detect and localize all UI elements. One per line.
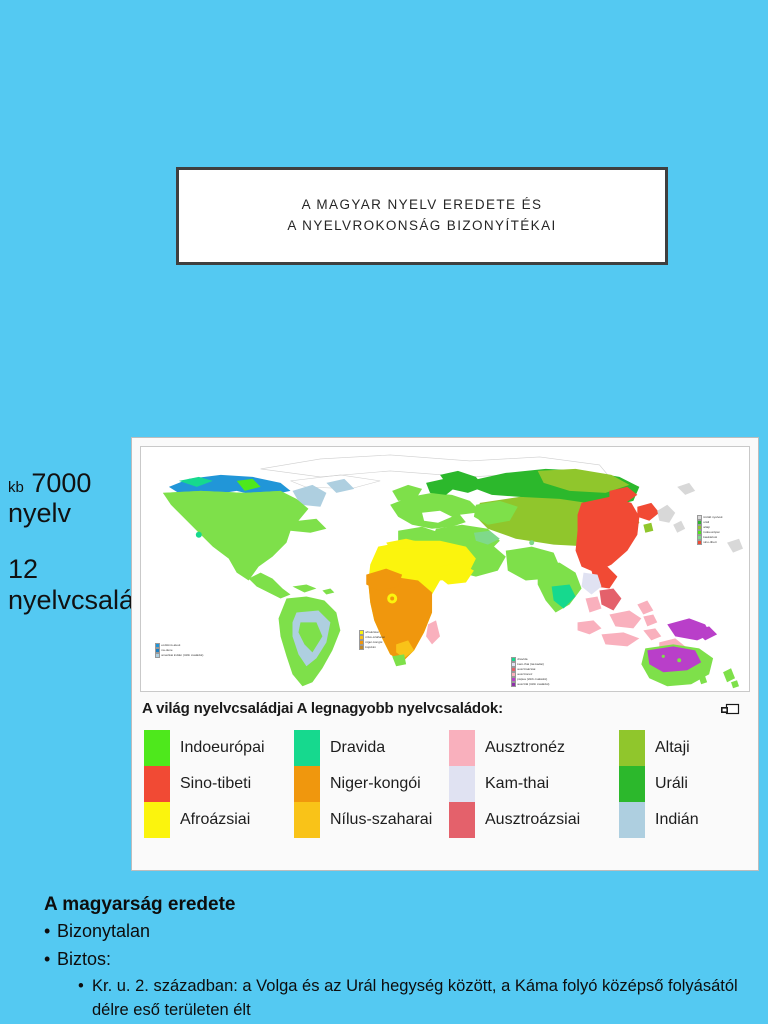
note-number-7000: 7000 [31, 468, 91, 498]
map-legend-item: sino-tibeti [697, 540, 723, 545]
map-legend-item: kojszán [359, 645, 385, 650]
map-legend-oceania: dravida kam-thai (tai-kadai) ausztroázsi… [511, 657, 549, 687]
legend-label-stack: Indoeurópai Sino-tibeti Afroázsiai [170, 730, 265, 838]
bottom-heading: A magyarság eredete [44, 892, 744, 918]
map-legend-label: kojszán [365, 645, 376, 650]
legend-column: Altaji Uráli Indián [619, 730, 744, 838]
legend-swatch-stack [144, 730, 170, 838]
swatch-icon [359, 645, 364, 650]
swatch-icon [449, 730, 475, 766]
page-title: A MAGYAR NYELV EREDETE ÉS A NYELVROKONSÁ… [287, 195, 556, 237]
legend-label: Ausztroázsiai [485, 802, 580, 838]
bottom-text-block: A magyarság eredete Bizonytalan Biztos: … [44, 892, 744, 1022]
legend-label: Nílus-szaharai [330, 802, 432, 838]
list-item: Biztos: [44, 946, 744, 974]
swatch-icon [697, 540, 702, 545]
swatch-icon [294, 730, 320, 766]
legend-label: Dravida [330, 730, 432, 766]
legend-label: Uráli [655, 766, 699, 802]
map-legend-label: sino-tibeti [703, 540, 716, 545]
swatch-icon [144, 766, 170, 802]
legend-label-stack: Dravida Niger-kongói Nílus-szaharai [320, 730, 432, 838]
legend-label: Indoeurópai [180, 730, 265, 766]
legend-label: Ausztronéz [485, 730, 580, 766]
figure-caption: A világ nyelvcsaládjai A legnagyobb nyel… [142, 700, 503, 717]
swatch-icon [449, 802, 475, 838]
legend-column: Dravida Niger-kongói Nílus-szaharai [294, 730, 449, 838]
legend-swatch-stack [294, 730, 320, 838]
swatch-icon [449, 766, 475, 802]
map-legend-item: amerikai indián (több családot) [155, 653, 203, 658]
legend-label: Altaji [655, 730, 699, 766]
swatch-icon [144, 802, 170, 838]
note-family-count: 12 nyelvcsalád [8, 554, 128, 614]
map-legend-label: ausztrál (több családot) [517, 682, 549, 687]
legend-swatch-stack [449, 730, 475, 838]
swatch-icon [619, 766, 645, 802]
swatch-icon [511, 682, 516, 687]
figure-caption-row: A világ nyelvcsaládjai A legnagyobb nyel… [142, 700, 742, 717]
window-restore-icon[interactable] [720, 702, 740, 716]
side-notes: kb 7000 nyelv 12 nyelvcsalád [8, 468, 128, 615]
note-approx-label: kb [8, 479, 24, 496]
map-legend-americas: eszkimó-aleut na-dene amerikai indián (t… [155, 643, 203, 658]
legend-column: Indoeurópai Sino-tibeti Afroázsiai [144, 730, 294, 838]
list-item: Kr. u. 2. században: a Volga és az Urál … [44, 975, 744, 1022]
world-map-frame: eszkimó-aleut na-dene amerikai indián (t… [140, 446, 750, 692]
note-word-nyelvcsalad: nyelvcsalád [8, 585, 149, 615]
legend-swatch-stack [619, 730, 645, 838]
list-item: Bizonytalan [44, 918, 744, 946]
swatch-icon [294, 766, 320, 802]
map-legend-label: amerikai indián (több családot) [161, 653, 203, 658]
swatch-icon [294, 802, 320, 838]
legend-label-stack: Altaji Uráli Indián [645, 730, 699, 838]
map-legend-eurasia: izolált nyelvek uráli altaji indoeurópai… [697, 515, 723, 545]
map-legend-item: ausztrál (több családot) [511, 682, 549, 687]
legend-column: Ausztronéz Kam-thai Ausztroázsiai [449, 730, 619, 838]
legend-label: Kam-thai [485, 766, 580, 802]
note-spacer [8, 528, 128, 554]
legend-label-stack: Ausztronéz Kam-thai Ausztroázsiai [475, 730, 580, 838]
legend-label: Niger-kongói [330, 766, 432, 802]
swatch-icon [619, 802, 645, 838]
map-legend-africa: afroázsiai nílus-szaharai niger-kongói k… [359, 630, 385, 650]
legend-label: Indián [655, 802, 699, 838]
world-map-svg [141, 447, 749, 692]
note-number-12: 12 [8, 554, 38, 584]
note-language-count: kb 7000 nyelv [8, 468, 128, 528]
figure-legend: Indoeurópai Sino-tibeti Afroázsiai Dravi… [144, 730, 748, 838]
swatch-icon [155, 653, 160, 658]
legend-label: Afroázsiai [180, 802, 265, 838]
figure-language-families[interactable]: eszkimó-aleut na-dene amerikai indián (t… [131, 437, 759, 871]
note-word-nyelv: nyelv [8, 498, 71, 528]
slide-title-box: A MAGYAR NYELV EREDETE ÉS A NYELVROKONSÁ… [176, 167, 668, 265]
legend-label: Sino-tibeti [180, 766, 265, 802]
swatch-icon [144, 730, 170, 766]
swatch-icon [619, 730, 645, 766]
